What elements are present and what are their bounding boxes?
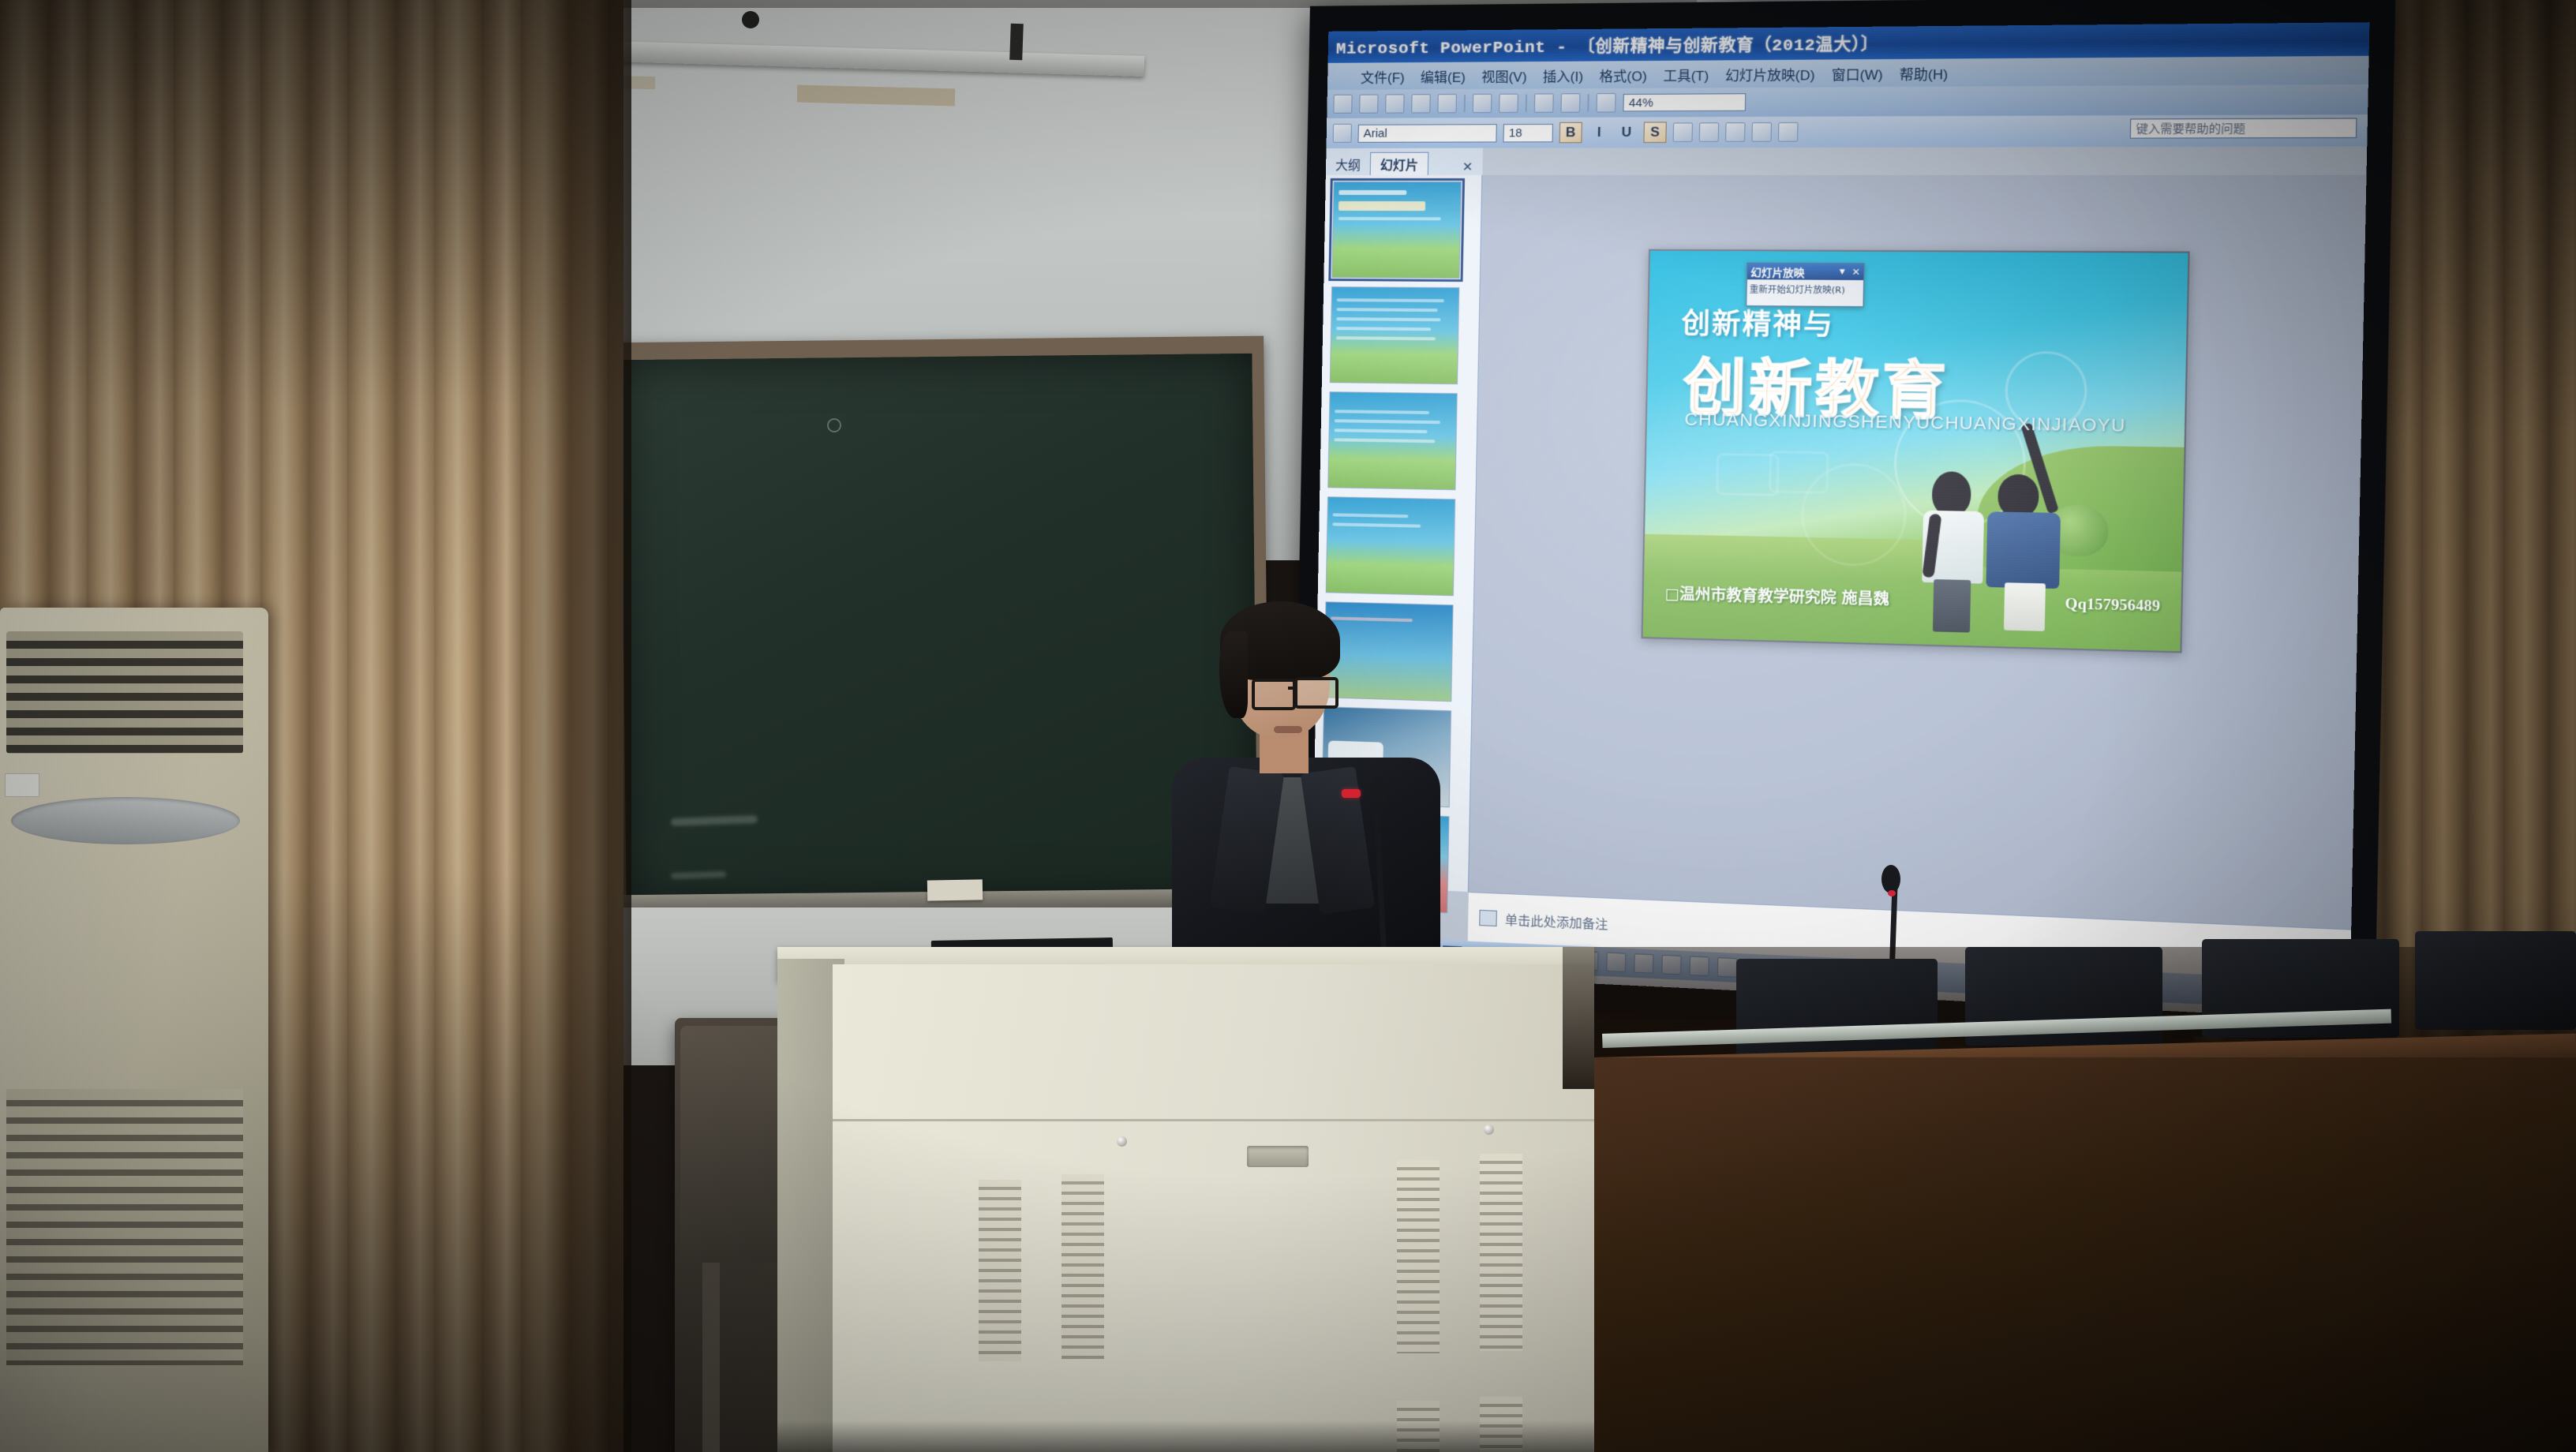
close-panel-button[interactable]: ✕ — [1453, 159, 1483, 175]
podium-panel-seam — [833, 1119, 1594, 1121]
slideshow-floating-toolbar[interactable]: 幻灯片放映 ▼ ✕ 重新开始幻灯片放映(R) — [1746, 263, 1864, 308]
wall-fixture-icon — [742, 11, 759, 28]
tab-outline[interactable]: 大纲 — [1326, 153, 1370, 175]
toolbar-divider — [1587, 94, 1589, 111]
speaker-hair-side — [1219, 631, 1248, 718]
menu-item-edit[interactable]: 编辑(E) — [1421, 65, 1466, 86]
podium-vent — [979, 1180, 1021, 1361]
microphone-indicator-light — [1888, 890, 1896, 896]
podium-screw — [1484, 1125, 1494, 1135]
slide-subtitle: 创新精神与 — [1681, 301, 1834, 343]
align-center-icon[interactable] — [1699, 122, 1719, 142]
speaker-glasses-bridge — [1288, 687, 1297, 690]
italic-button[interactable]: I — [1589, 123, 1610, 142]
standard-toolbar: 44% — [1327, 84, 2368, 118]
preview-icon[interactable] — [1437, 94, 1457, 113]
style-icon[interactable] — [1333, 124, 1352, 143]
speaker-mouth — [1274, 726, 1302, 733]
decrease-font-icon[interactable] — [1778, 122, 1799, 142]
insert-chart-icon[interactable] — [1534, 93, 1554, 112]
increase-font-icon[interactable] — [1751, 122, 1772, 142]
speaker-glasses-right-lens — [1294, 677, 1339, 709]
podium-screw — [1117, 1136, 1127, 1147]
toolbar-divider — [1464, 95, 1466, 112]
help-search-input[interactable]: 键入需要帮助的问题 — [2130, 118, 2357, 138]
undo-icon[interactable] — [1473, 94, 1492, 113]
chair-leg — [702, 1263, 720, 1452]
zoom-input[interactable]: 44% — [1623, 93, 1746, 111]
projection-screen: Microsoft PowerPoint - 〔创新精神与创新教育（2012温大… — [1311, 22, 2370, 1020]
photo-scene: Microsoft PowerPoint - 〔创新精神与创新教育（2012温大… — [0, 0, 2576, 1452]
blackboard-eraser — [927, 879, 983, 900]
font-name-input[interactable]: Arial — [1357, 124, 1496, 143]
close-icon[interactable]: ✕ — [1851, 266, 1860, 278]
grid-icon[interactable] — [1596, 93, 1616, 113]
menu-item-file[interactable]: 文件(F) — [1361, 66, 1405, 86]
air-conditioner-label — [5, 773, 39, 797]
slide-thumbnail-1[interactable] — [1331, 181, 1462, 279]
underline-button[interactable]: U — [1616, 123, 1637, 143]
menu-item-view[interactable]: 视图(V) — [1481, 65, 1527, 86]
restart-slideshow-button[interactable]: 重新开始幻灯片放映(R) — [1747, 279, 1863, 300]
menu-item-tools[interactable]: 工具(T) — [1663, 64, 1709, 84]
chalk-mark-icon — [827, 418, 841, 432]
podium-vent — [1480, 1154, 1522, 1351]
window-title: Microsoft PowerPoint - 〔创新精神与创新教育（2012温大… — [1336, 31, 1879, 59]
formatting-toolbar: Arial 18 B I U S 键入需要帮助的问题 — [1327, 114, 2368, 148]
insert-table-icon[interactable] — [1560, 93, 1580, 112]
speaker-glasses-left-lens — [1252, 679, 1296, 710]
air-conditioner-grille — [6, 631, 243, 754]
font-size-input[interactable]: 18 — [1503, 123, 1553, 141]
current-slide[interactable]: 创新精神与 创新教育 CHUANGXINJINGSHENYUCHUANGXINJ… — [1641, 249, 2189, 653]
podium-handle[interactable] — [1247, 1146, 1309, 1167]
bold-button[interactable]: B — [1559, 122, 1582, 143]
podium-shadow — [777, 1420, 1594, 1452]
menu-item-help[interactable]: 帮助(H) — [1900, 62, 1949, 83]
open-icon[interactable] — [1359, 95, 1378, 114]
menu-item-insert[interactable]: 插入(I) — [1543, 65, 1584, 85]
audience-chair — [2415, 931, 2576, 1030]
slide-thumbnail-5[interactable] — [1324, 601, 1453, 702]
microphone-head-icon-secondary — [1881, 865, 1900, 893]
redo-icon[interactable] — [1499, 94, 1518, 113]
podium-vent — [1397, 1160, 1440, 1353]
notes-placeholder[interactable]: 单击此处添加备注 — [1505, 909, 1608, 933]
shadow-button[interactable]: S — [1643, 122, 1666, 143]
notes-icon — [1479, 909, 1497, 926]
new-file-icon[interactable] — [1333, 95, 1352, 114]
air-conditioner-display-panel — [11, 797, 240, 844]
print-icon[interactable] — [1411, 94, 1431, 113]
slide-child-right — [1985, 456, 2070, 631]
slide-qq: Qq157956489 — [2065, 596, 2160, 616]
bullets-icon[interactable] — [1725, 122, 1745, 142]
curtain-left-edge-shadow — [505, 0, 631, 1452]
slideshow-toolbar-title: 幻灯片放映 — [1750, 264, 1804, 279]
toolbar-divider — [1526, 95, 1527, 112]
menu-item-slideshow[interactable]: 幻灯片放映(D) — [1725, 63, 1815, 84]
menu-item-window[interactable]: 窗口(W) — [1832, 63, 1883, 84]
microphone-head-icon — [1369, 777, 1388, 804]
slide-canvas[interactable]: 创新精神与 创新教育 CHUANGXINJINGSHENYUCHUANGXINJ… — [1469, 175, 2367, 930]
podium-vent — [1061, 1174, 1104, 1360]
panel-tabs: 大纲 幻灯片 ✕ — [1326, 148, 1483, 175]
menu-item-format[interactable]: 格式(O) — [1599, 65, 1647, 85]
conference-table — [1594, 1057, 2576, 1452]
chevron-down-icon[interactable]: ▼ — [1837, 267, 1847, 276]
speaker-lapel-pin — [1342, 789, 1361, 798]
slide-thumbnail-2[interactable] — [1330, 286, 1460, 384]
slide-child-left — [1916, 471, 1990, 628]
save-icon[interactable] — [1385, 94, 1404, 113]
tab-slides[interactable]: 幻灯片 — [1370, 152, 1429, 175]
wall-bracket-icon — [1009, 24, 1024, 61]
air-conditioner-lower-grille — [6, 1089, 243, 1365]
slideshow-toolbar-titlebar: 幻灯片放映 ▼ ✕ — [1747, 264, 1864, 280]
slide-thumbnail-3[interactable] — [1327, 391, 1458, 490]
align-left-icon[interactable] — [1673, 122, 1693, 142]
slide-thumbnail-4[interactable] — [1326, 496, 1455, 596]
